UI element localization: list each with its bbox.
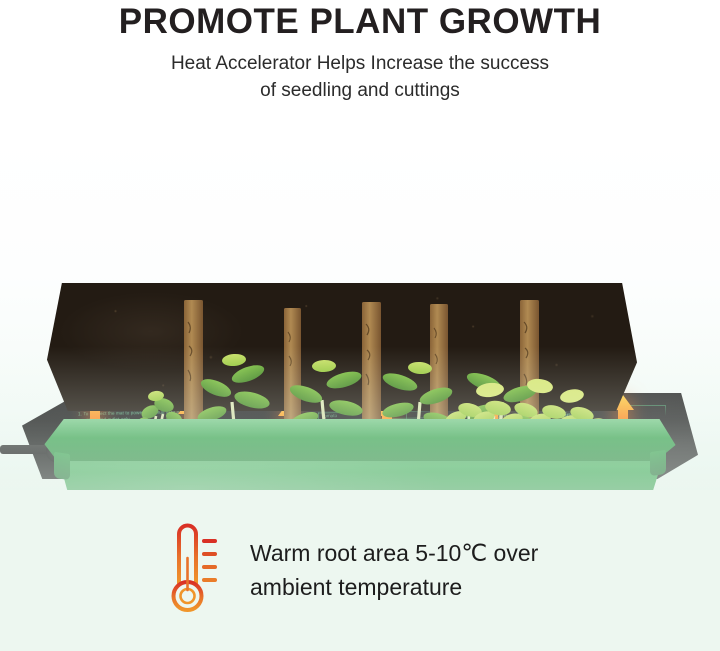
tray-corner-right [650,450,666,476]
thermometer-icon [162,522,224,618]
seedling-tray [38,401,682,490]
subtitle-line-1: Heat Accelerator Helps Increase the succ… [0,50,720,77]
temperature-line-1: Warm root area 5-10℃ over [250,536,538,570]
tray-rim-highlight [38,419,682,461]
product-marketing-image: PROMOTE PLANT GROWTH Heat Accelerator He… [0,0,720,651]
product-photo: 1. To connect the mat to power, first pl… [0,131,720,490]
subtitle-line-2: of seedling and cuttings [0,77,720,104]
footer-band: Warm root area 5-10℃ over ambient temper… [0,490,720,651]
tray-corner-left [54,452,70,480]
header-band: PROMOTE PLANT GROWTH Heat Accelerator He… [0,0,720,131]
page-subtitle: Heat Accelerator Helps Increase the succ… [0,50,720,104]
page-title: PROMOTE PLANT GROWTH [0,2,720,42]
temperature-line-2: ambient temperature [250,570,538,604]
temperature-callout: Warm root area 5-10℃ over ambient temper… [162,522,682,618]
temperature-text: Warm root area 5-10℃ over ambient temper… [250,536,538,604]
